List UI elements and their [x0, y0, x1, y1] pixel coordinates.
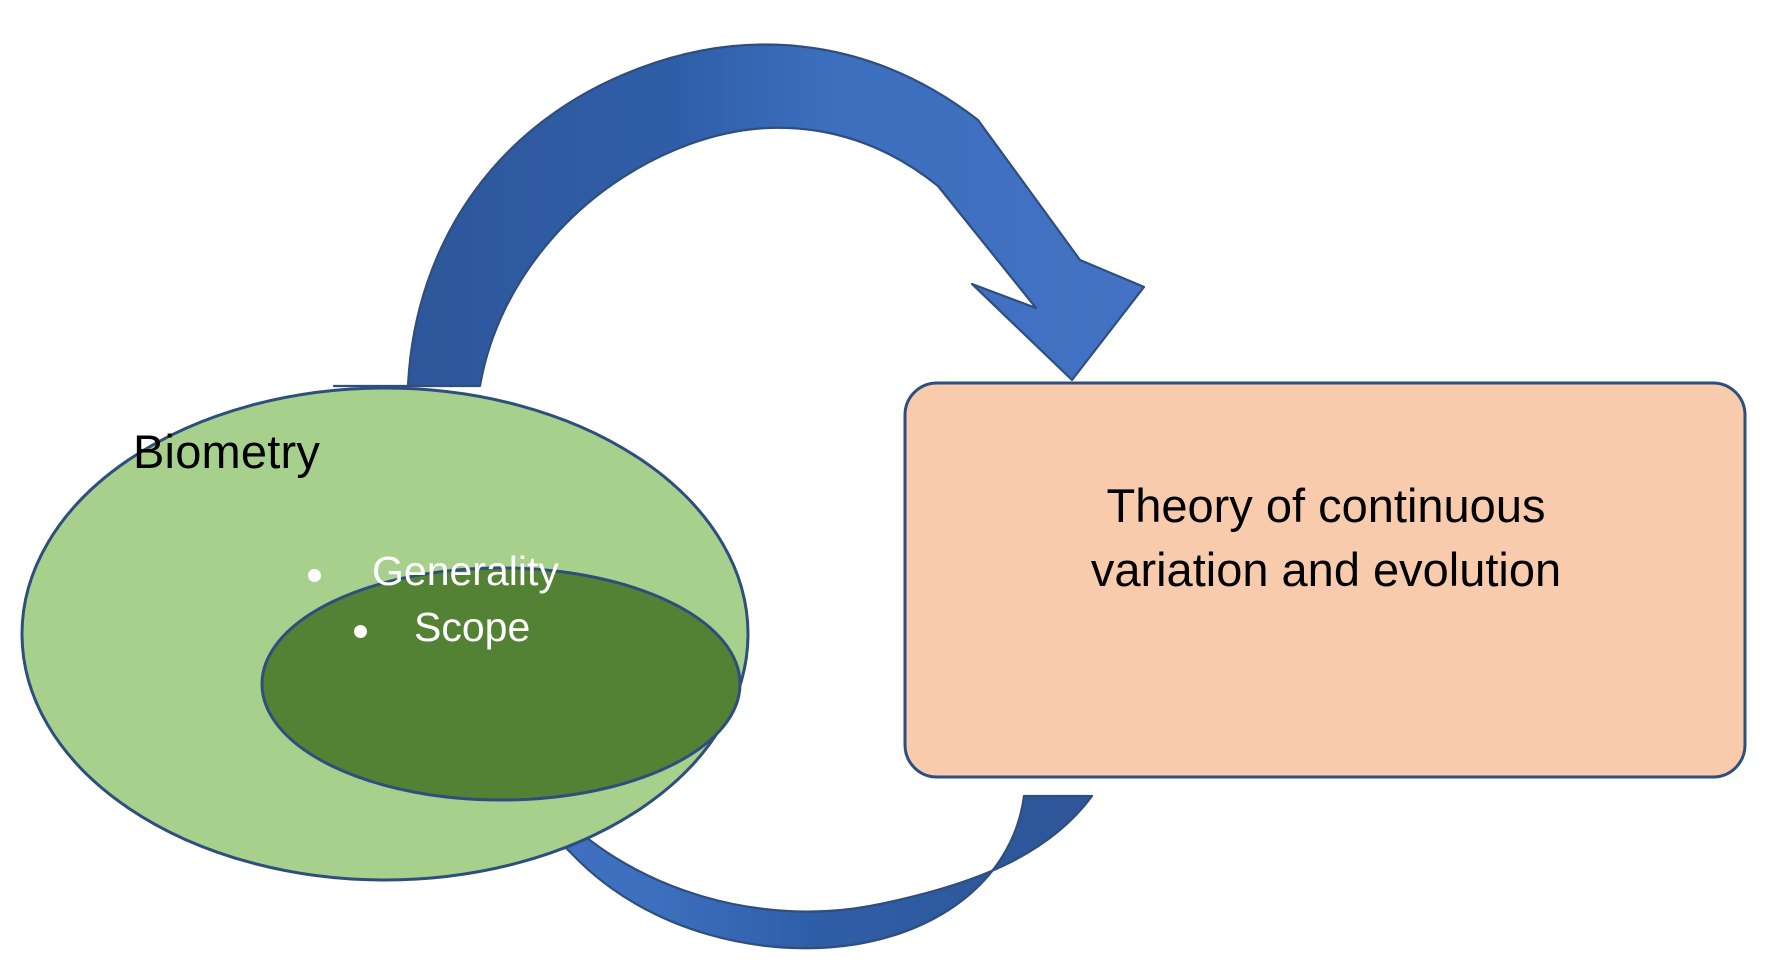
top-arc-arrow [334, 45, 1144, 386]
theory-box-label: Theory of continuous variation and evolu… [920, 474, 1732, 603]
list-item: Scope [300, 604, 600, 660]
list-item-label: Scope [414, 604, 530, 651]
top-arc-arrow-shape [334, 45, 1144, 386]
list-item-label: Generality [372, 548, 559, 595]
diagram-canvas: Biometry Generality Scope Theory of cont… [0, 0, 1772, 971]
bullet-icon [308, 569, 321, 582]
list-item: Generality [300, 548, 600, 604]
bullet-icon [354, 625, 367, 638]
inner-bullet-list: Generality Scope [300, 548, 600, 660]
